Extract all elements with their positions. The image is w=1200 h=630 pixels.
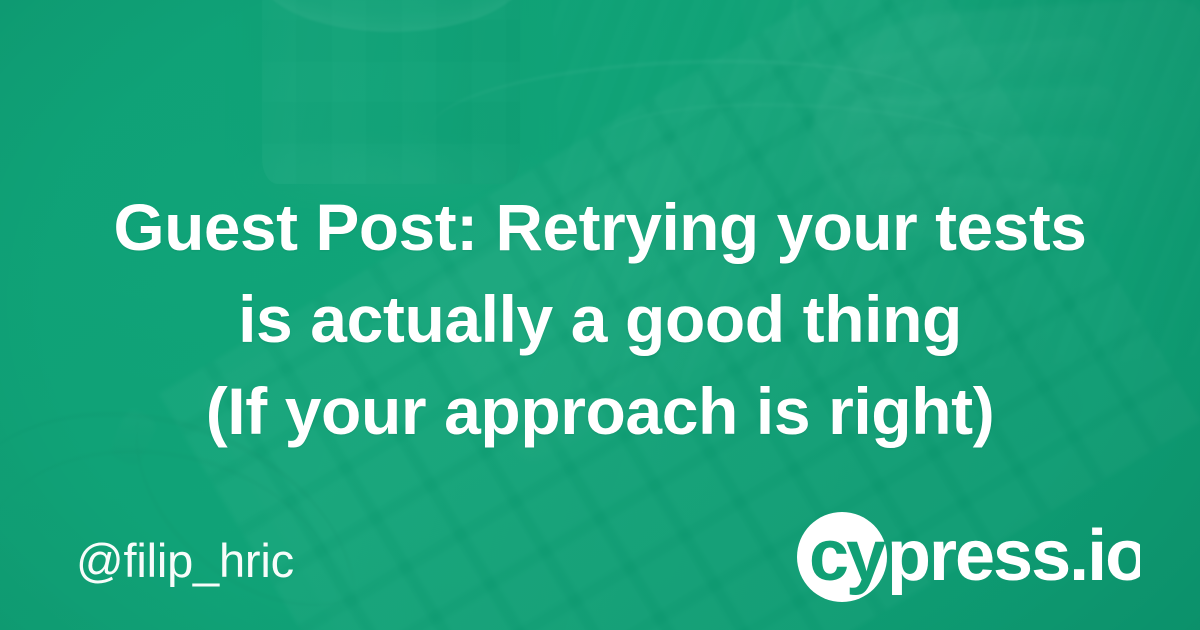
social-share-card: Guest Post: Retrying your tests is actua…	[0, 0, 1200, 630]
cypress-logo-wordmark-text: press.io	[887, 516, 1140, 596]
post-title-line-2: is actually a good thing	[0, 273, 1200, 365]
post-title: Guest Post: Retrying your tests is actua…	[0, 181, 1200, 457]
post-title-line-3: (If your approach is right)	[0, 365, 1200, 457]
cypress-logo-cy-text: cy	[809, 516, 886, 596]
post-title-line-1: Guest Post: Retrying your tests	[3, 181, 1197, 273]
card-content: Guest Post: Retrying your tests is actua…	[0, 0, 1200, 630]
cypress-logo: cy press.io	[795, 500, 1140, 612]
author-handle: @filip_hric	[76, 533, 294, 589]
